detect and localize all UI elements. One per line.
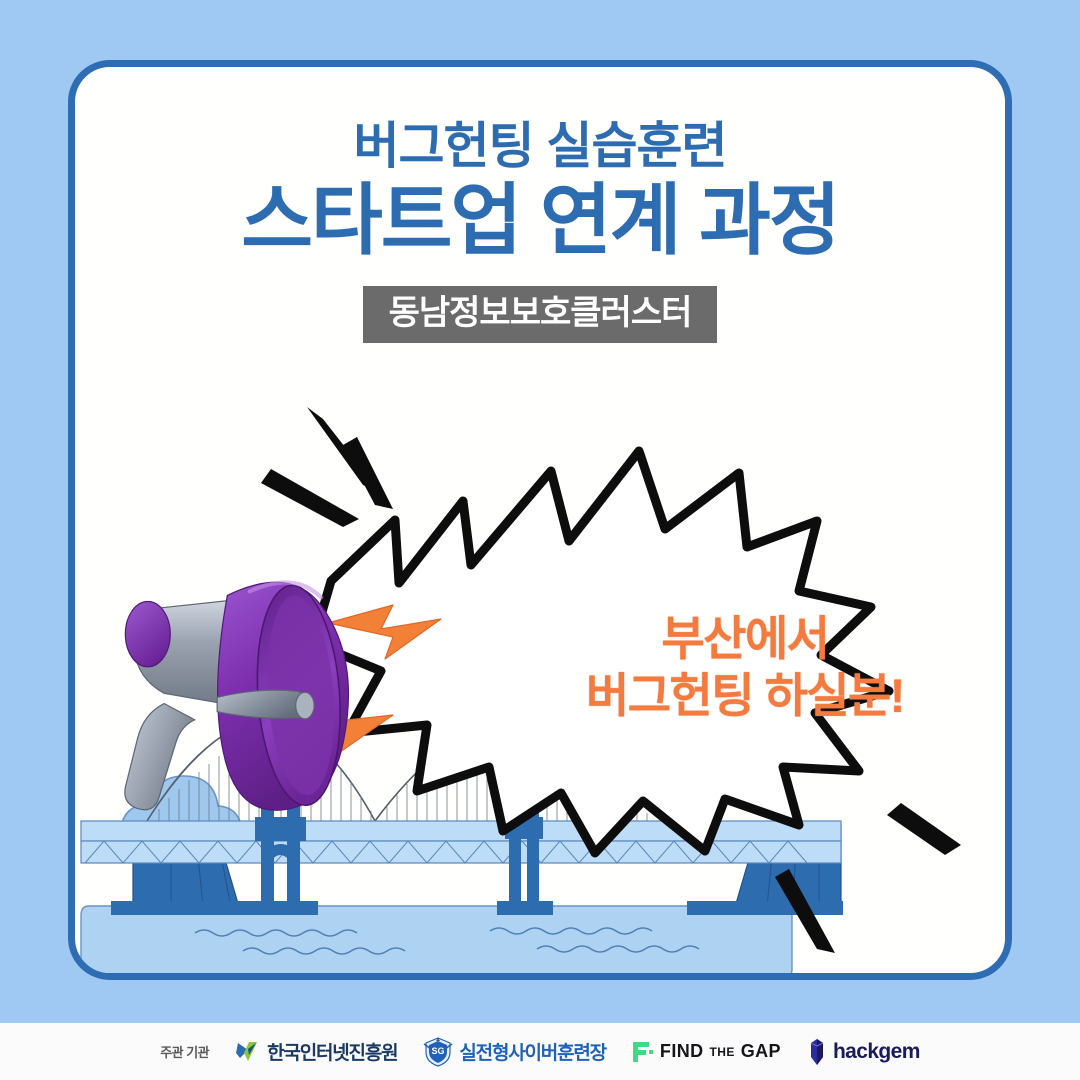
ftg-gap-label: GAP	[741, 1041, 781, 1062]
illustration-stage: 부산에서 버그헌팅 하실분!	[75, 397, 1005, 980]
kisa-label: 한국인터넷진흥원	[267, 1038, 397, 1065]
footer-logo-bar: 주관 기관 한국인터넷진흥원 SG 실전형사이버훈련장	[0, 1023, 1080, 1080]
bridge-deck-upper	[81, 821, 841, 841]
find-the-gap-f-icon	[632, 1040, 654, 1064]
bridge-pier-cap-left	[111, 901, 287, 915]
content-card: 버그헌팅 실습훈련 스타트업 연계 과정 동남정보보호클러스터	[68, 60, 1012, 980]
sg-shield-icon: SG	[423, 1037, 453, 1067]
hackgem-label: hackgem	[833, 1040, 920, 1064]
ftg-the-label: THE	[710, 1045, 735, 1059]
speech-bubble-text: 부산에서 버그헌팅 하실분!	[530, 610, 960, 725]
logo-kisa: 한국인터넷진흥원	[235, 1038, 397, 1065]
kisa-chevron-icon	[235, 1039, 261, 1065]
speech-bubble-line-2: 버그헌팅 하실분!	[530, 667, 960, 724]
speech-bubble-line-1: 부산에서	[530, 610, 960, 667]
sg-label: 실전형사이버훈련장	[459, 1038, 606, 1065]
bridge-deck-truss	[81, 841, 841, 863]
title-line-2: 스타트업 연계 과정	[75, 176, 1005, 266]
footer-label: 주관 기관	[160, 1042, 209, 1061]
ftg-find-label: FIND	[660, 1041, 704, 1062]
bridge-pier-cap-right	[687, 901, 843, 915]
logo-sg-security: SG 실전형사이버훈련장	[423, 1037, 606, 1067]
logo-hackgem: hackgem	[807, 1038, 920, 1066]
title-line-1: 버그헌팅 실습훈련	[75, 119, 1005, 174]
subtitle-badge: 동남정보보호클러스터	[363, 286, 718, 343]
sg-badge-text: SG	[432, 1046, 445, 1056]
megaphone-icon	[125, 582, 349, 810]
gem-icon	[807, 1038, 827, 1066]
headline-block: 버그헌팅 실습훈련 스타트업 연계 과정 동남정보보호클러스터	[75, 119, 1005, 343]
subtitle-wrap: 동남정보보호클러스터	[75, 286, 1005, 343]
poster: 버그헌팅 실습훈련 스타트업 연계 과정 동남정보보호클러스터	[0, 0, 1080, 1080]
logo-find-the-gap: FIND THE GAP	[632, 1040, 781, 1064]
